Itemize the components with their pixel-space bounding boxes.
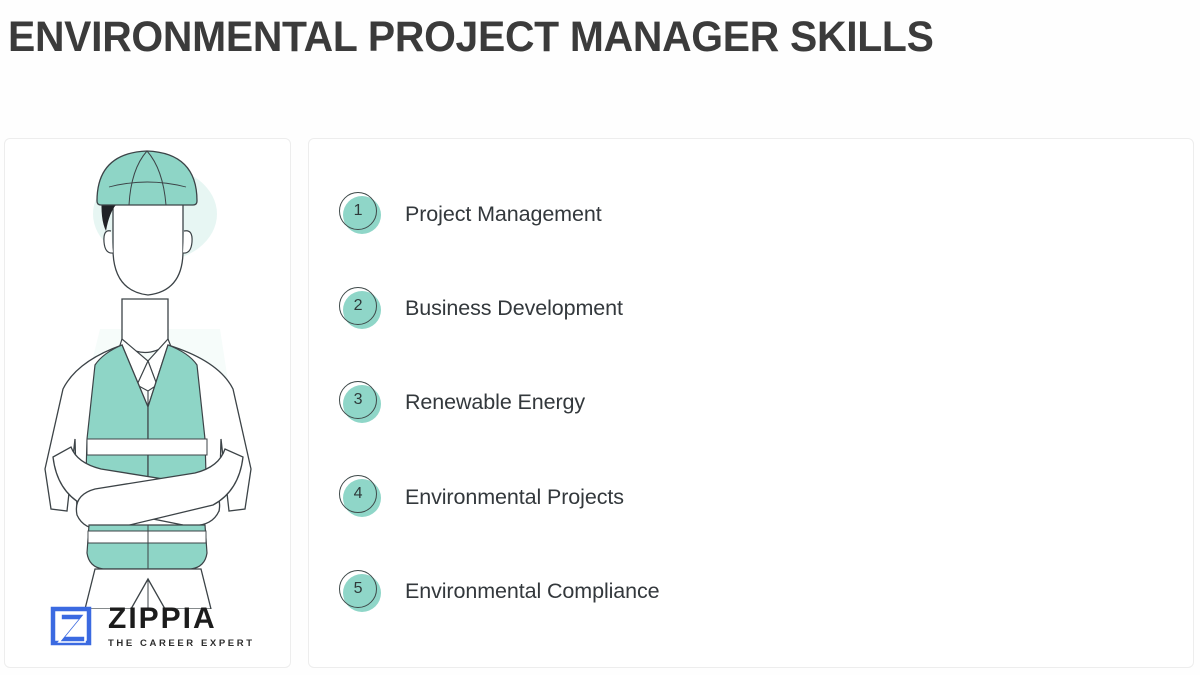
skill-number: 4 (339, 475, 377, 513)
skill-number: 2 (339, 287, 377, 325)
zippia-wordmark: ZIPPIA THE CAREER EXPERT (108, 604, 255, 649)
skill-item-8: 8 Regulatory Agencies (759, 356, 1200, 450)
skill-number: 5 (339, 570, 377, 608)
skill-number-badge: 4 (339, 475, 383, 519)
skill-item-6: 6 OSHA (759, 167, 1200, 261)
skill-item-7: 7 Technical Reports (759, 261, 1200, 355)
skill-label: Environmental Compliance (405, 579, 660, 604)
skill-item-1: 1 Project Management (309, 167, 759, 261)
skill-number-badge: 2 (339, 287, 383, 331)
skill-item-2: 2 Business Development (309, 261, 759, 355)
zippia-logo-mark-icon (49, 603, 95, 649)
skill-item-4: 4 Environmental Projects (309, 450, 759, 544)
page-title: ENVIRONMENTAL PROJECT MANAGER SKILLS (8, 14, 934, 61)
skill-number: 1 (339, 192, 377, 230)
skill-label: Business Development (405, 296, 623, 321)
skills-panel: 1 Project Management 6 OSHA 2 Business D… (308, 138, 1194, 668)
skills-grid: 1 Project Management 6 OSHA 2 Business D… (309, 139, 1193, 667)
skill-item-3: 3 Renewable Energy (309, 356, 759, 450)
infographic-page: ENVIRONMENTAL PROJECT MANAGER SKILLS (0, 0, 1200, 675)
skill-label: Renewable Energy (405, 390, 585, 415)
skill-item-5: 5 Environmental Compliance (309, 545, 759, 639)
zippia-logo: ZIPPIA THE CAREER EXPERT (49, 603, 255, 649)
skill-number-badge: 5 (339, 570, 383, 614)
skill-number-badge: 3 (339, 381, 383, 425)
skill-number: 3 (339, 381, 377, 419)
skill-item-10: 10 Oversight (759, 545, 1200, 639)
worker-illustration (5, 139, 290, 609)
illustration-panel: ZIPPIA THE CAREER EXPERT (4, 138, 291, 668)
skill-number-badge: 1 (339, 192, 383, 236)
skill-item-9: 9 Environmental Regulations (759, 450, 1200, 544)
skill-label: Project Management (405, 202, 602, 227)
zippia-tagline: THE CAREER EXPERT (108, 639, 255, 649)
skill-label: Environmental Projects (405, 485, 624, 510)
zippia-name: ZIPPIA (108, 604, 255, 634)
